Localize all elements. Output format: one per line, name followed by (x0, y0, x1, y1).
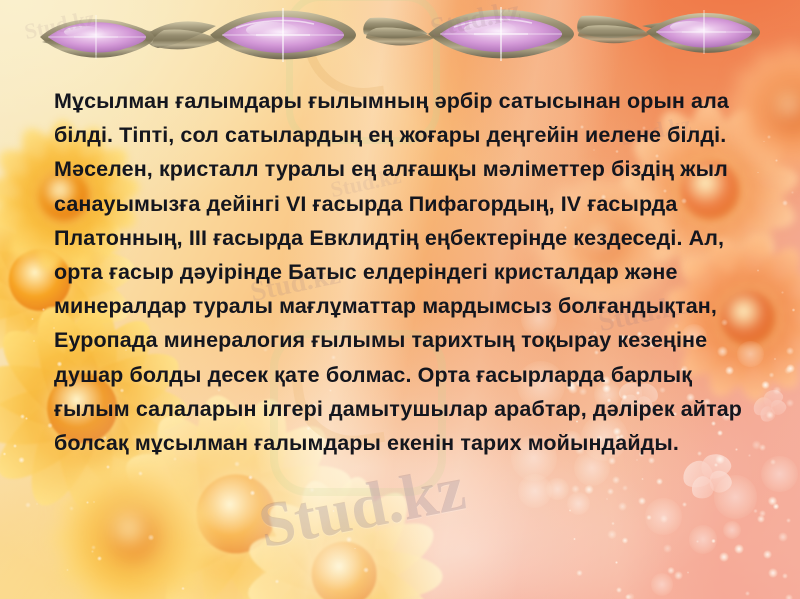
sparkle (363, 567, 369, 573)
sparkle (774, 358, 776, 360)
sparkle (607, 530, 616, 539)
jeweled-divider-ornament (40, 6, 760, 64)
sparkle (571, 485, 580, 494)
sparkle (778, 532, 788, 542)
sparkle (69, 506, 74, 511)
sparkle (91, 545, 96, 550)
sparkle (638, 497, 646, 505)
sparkle (20, 414, 25, 419)
sparkle (249, 588, 251, 590)
sparkle (786, 347, 794, 355)
sparkle (3, 452, 6, 455)
sparkle (786, 399, 794, 407)
sparkle (181, 587, 185, 591)
sparkle (656, 478, 663, 485)
sparkle (607, 488, 613, 494)
sparkle (646, 515, 652, 521)
sparkle (612, 476, 620, 484)
sparkle (47, 423, 52, 428)
sparkle (773, 503, 780, 510)
sparkle (13, 444, 18, 449)
sparkle (618, 502, 627, 511)
bokeh-light (546, 478, 568, 500)
sparkle (767, 135, 771, 139)
sparkle (106, 465, 110, 469)
sparkle (768, 568, 778, 578)
sparkle (687, 571, 690, 574)
sparkle (332, 510, 335, 513)
watermark-text: Stud.kz (22, 5, 97, 45)
flower-decoration (236, 470, 452, 599)
sparkle (784, 367, 792, 375)
sparkle (768, 496, 777, 505)
bokeh-light (518, 474, 553, 509)
sparkle (138, 471, 143, 476)
sparkle (606, 498, 608, 500)
sparkle (714, 463, 718, 467)
sparkle (757, 515, 765, 523)
sparkle (616, 587, 622, 593)
sparkle (769, 372, 775, 378)
sparkle (782, 573, 788, 579)
sparkle (339, 528, 341, 530)
sparkle (569, 509, 571, 511)
sparkle (641, 478, 644, 481)
sparkle (309, 487, 315, 493)
sparkle (91, 550, 93, 552)
bokeh-light (714, 475, 758, 519)
sparkle (660, 515, 668, 523)
sparkle (761, 381, 769, 389)
sparkle (786, 518, 791, 523)
sparkle (674, 571, 683, 580)
sparkle (622, 485, 628, 491)
bokeh-light (651, 573, 673, 595)
sparkle (25, 502, 31, 508)
slide-canvas: Stud.kz Stud.kz Stud.kz Stud.kz Stud.kz … (0, 0, 800, 599)
sparkle (766, 411, 774, 419)
sparkle (234, 461, 240, 467)
sparkle (93, 501, 95, 503)
sparkle (757, 269, 760, 272)
sparkle (719, 552, 729, 562)
sparkle (622, 537, 629, 544)
sparkle (734, 544, 744, 554)
bokeh-light (723, 521, 741, 539)
sparkle (763, 550, 772, 559)
sparkle (782, 200, 788, 206)
sparkle (663, 544, 672, 553)
sparkle (33, 340, 35, 342)
sparkle (275, 579, 280, 584)
sparkle (745, 591, 750, 596)
sparkle (611, 522, 615, 526)
sparkle (625, 594, 631, 599)
sparkle (66, 569, 69, 572)
sparkle (86, 501, 89, 504)
sparkle (615, 561, 618, 564)
sparkle (148, 534, 154, 540)
sparkle (667, 567, 675, 575)
watermark-text: Stud.kz (428, 0, 524, 45)
slide-body-text: Мұсылман ғалымдары ғылымның әрбір сатысы… (54, 84, 754, 460)
sparkle (711, 539, 716, 544)
bokeh-light (645, 498, 681, 534)
sparkle (775, 159, 778, 162)
sparkle (354, 548, 356, 550)
butterfly-icon (749, 386, 793, 428)
sparkle (696, 540, 699, 543)
sparkle (786, 364, 795, 373)
sparkle (584, 485, 593, 494)
sparkle (31, 318, 34, 321)
sparkle (763, 141, 765, 143)
sparkle (759, 444, 766, 451)
sparkle (36, 503, 38, 505)
bokeh-light (567, 492, 590, 515)
sparkle (791, 191, 794, 194)
sparkle (18, 457, 24, 463)
sparkle (682, 502, 687, 507)
sparkle (248, 475, 253, 480)
sparkle (785, 594, 793, 599)
flower-decoration (44, 446, 222, 599)
sparkle (576, 570, 582, 576)
sparkle (792, 308, 795, 311)
sparkle (250, 490, 255, 495)
sparkle (773, 386, 782, 395)
sparkle (770, 459, 776, 465)
bokeh-light (761, 456, 797, 492)
sparkle (781, 291, 784, 294)
sparkle (573, 538, 576, 541)
sparkle (346, 536, 352, 542)
bokeh-light (689, 525, 718, 554)
sparkle (759, 510, 766, 517)
sparkle (42, 308, 44, 310)
sparkle (97, 556, 102, 561)
sparkle (25, 417, 28, 420)
watermark-primary: Stud.kz (253, 451, 471, 563)
ornament-svg (40, 6, 760, 64)
sparkle (753, 509, 758, 514)
sparkle (626, 593, 634, 599)
sparkle (757, 172, 759, 174)
